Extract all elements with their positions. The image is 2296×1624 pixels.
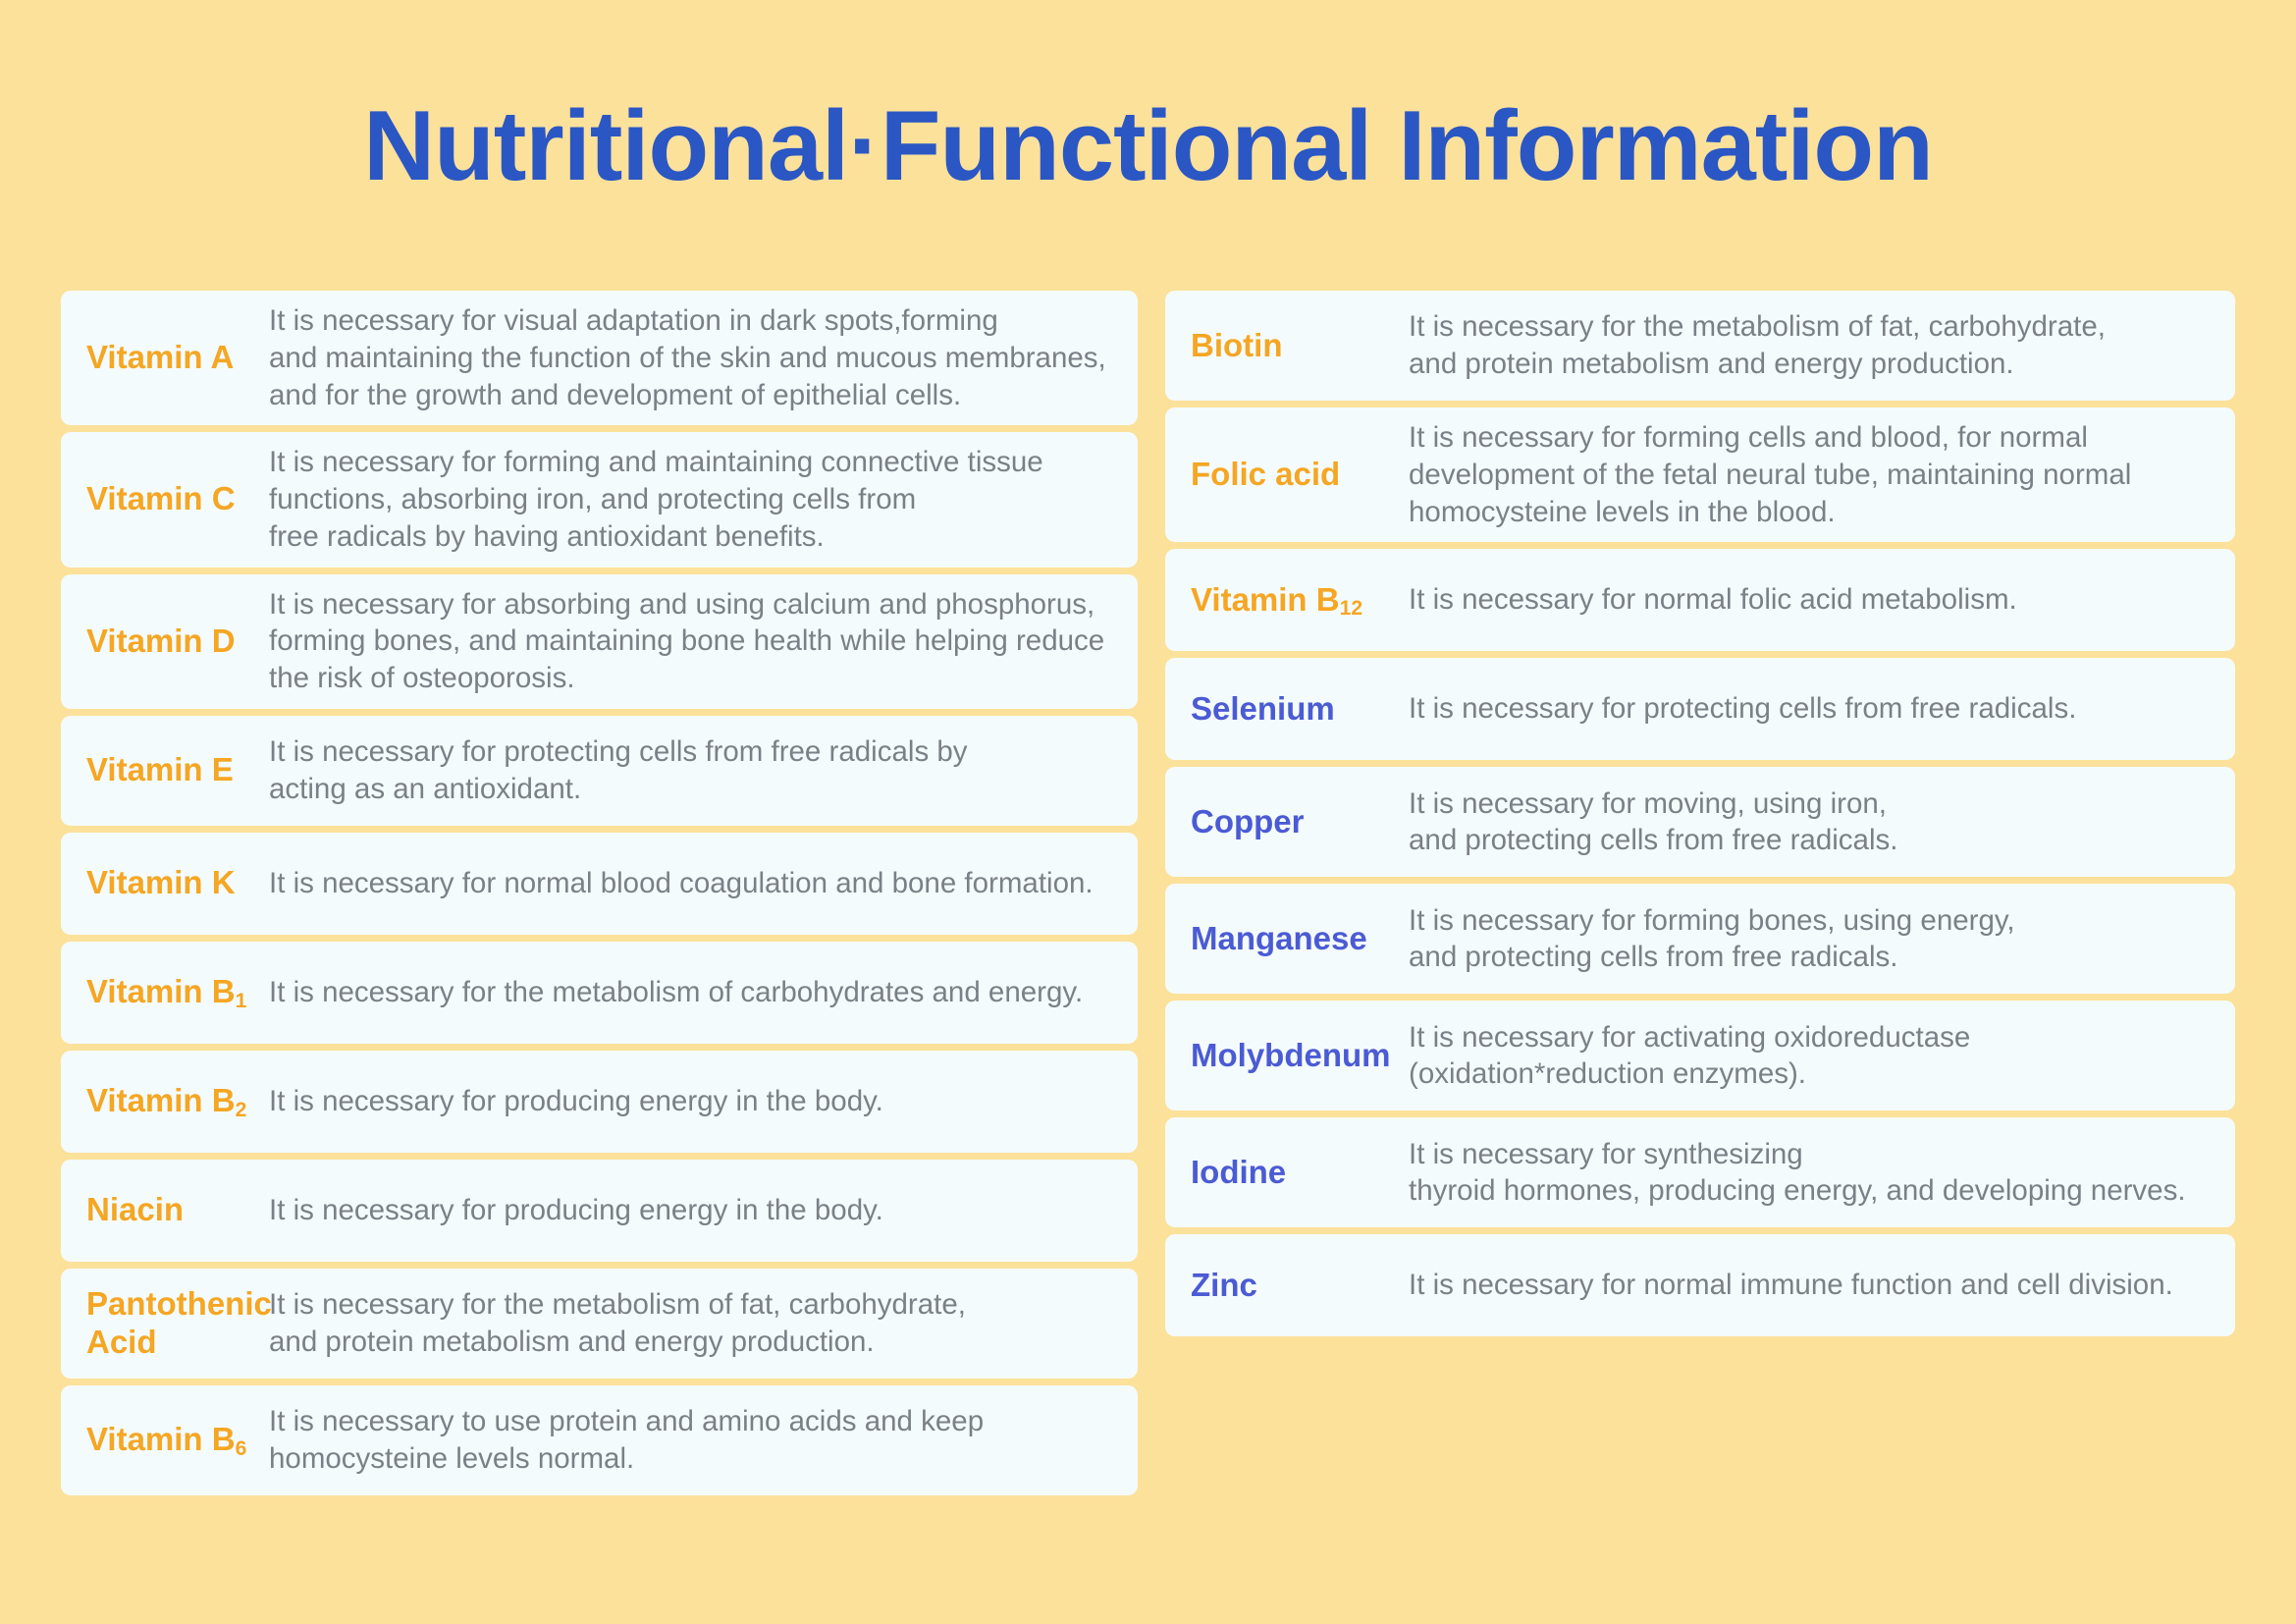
nutrient-row-vitamin-e: Vitamin EIt is necessary for protecting … (61, 716, 1138, 826)
nutrient-label-vitamin-c: Vitamin C (75, 480, 269, 518)
nutrient-label-text: Iodine (1191, 1154, 1286, 1190)
nutrient-description-zinc: It is necessary for normal immune functi… (1405, 1267, 2219, 1304)
nutrient-row-vitamin-c: Vitamin CIt is necessary for forming and… (61, 432, 1138, 567)
nutrient-description-niacin: It is necessary for producing energy in … (269, 1192, 1122, 1229)
nutrient-label-folic-acid: Folic acid (1179, 456, 1405, 494)
nutrient-label-text: Vitamin E (86, 751, 234, 787)
nutrient-label-text: Vitamin C (86, 480, 236, 516)
nutrient-label-text: Vitamin B (1191, 581, 1340, 618)
nutrient-label-text: Vitamin K (86, 864, 236, 900)
page-title: Nutritional·Functional Information (0, 94, 2296, 198)
nutrient-label-text: Vitamin B (86, 973, 236, 1009)
nutrient-description-vitamin-b2: It is necessary for producing energy in … (269, 1083, 1122, 1120)
nutrient-label-text: Vitamin A (86, 339, 234, 375)
nutrient-row-vitamin-a: Vitamin AIt is necessary for visual adap… (61, 291, 1138, 425)
nutrient-row-copper: CopperIt is necessary for moving, using … (1165, 767, 2235, 877)
nutrient-label-biotin: Biotin (1179, 327, 1405, 365)
nutrient-row-niacin: NiacinIt is necessary for producing ener… (61, 1160, 1138, 1262)
nutrient-label-vitamin-b6: Vitamin B6 (75, 1421, 269, 1459)
minerals-column: BiotinIt is necessary for the metabolism… (1165, 291, 2235, 1495)
nutrient-label-vitamin-b1: Vitamin B1 (75, 973, 269, 1011)
nutrient-label-text: Copper (1191, 803, 1305, 839)
nutrient-description-manganese: It is necessary for forming bones, using… (1405, 902, 2219, 977)
nutrient-label-copper: Copper (1179, 803, 1405, 841)
nutrient-row-selenium: SeleniumIt is necessary for protecting c… (1165, 658, 2235, 760)
nutrient-label-text: Vitamin B (86, 1421, 236, 1457)
nutrient-label-text: Biotin (1191, 327, 1282, 363)
nutrient-label-text: Molybdenum (1191, 1037, 1391, 1073)
nutrient-row-biotin: BiotinIt is necessary for the metabolism… (1165, 291, 2235, 401)
nutrient-label-pantothenic-acid: Pantothenic Acid (75, 1285, 269, 1362)
nutrient-row-vitamin-d: Vitamin DIt is necessary for absorbing a… (61, 574, 1138, 709)
nutrient-description-vitamin-b12: It is necessary for normal folic acid me… (1405, 581, 2219, 619)
nutrient-description-iodine: It is necessary for synthesizing thyroid… (1405, 1136, 2219, 1211)
nutrient-label-text: Vitamin D (86, 623, 236, 659)
nutrient-description-copper: It is necessary for moving, using iron, … (1405, 785, 2219, 860)
nutrient-description-vitamin-c: It is necessary for forming and maintain… (269, 444, 1122, 555)
info-columns: Vitamin AIt is necessary for visual adap… (0, 291, 2296, 1495)
nutrient-label-vitamin-b12: Vitamin B12 (1179, 581, 1405, 620)
nutrient-label-vitamin-d: Vitamin D (75, 623, 269, 661)
nutrient-description-vitamin-a: It is necessary for visual adaptation in… (269, 302, 1122, 413)
nutrient-label-subscript: 2 (236, 1099, 247, 1121)
nutrient-description-vitamin-k: It is necessary for normal blood coagula… (269, 865, 1122, 902)
nutrient-label-vitamin-e: Vitamin E (75, 751, 269, 789)
nutrient-description-biotin: It is necessary for the metabolism of fa… (1405, 308, 2219, 383)
nutrient-label-molybdenum: Molybdenum (1179, 1037, 1405, 1075)
nutrient-row-vitamin-b12: Vitamin B12It is necessary for normal fo… (1165, 549, 2235, 651)
nutrient-label-text: Niacin (86, 1191, 184, 1227)
nutrient-label-text: Folic acid (1191, 456, 1340, 492)
nutrient-label-text: Manganese (1191, 920, 1367, 956)
nutrient-label-selenium: Selenium (1179, 690, 1405, 729)
nutrient-label-subscript: 1 (236, 990, 247, 1012)
nutrient-label-text: Zinc (1191, 1267, 1257, 1303)
nutrient-label-text: Vitamin B (86, 1082, 236, 1118)
nutrient-description-folic-acid: It is necessary for forming cells and bl… (1405, 419, 2219, 530)
nutrient-row-vitamin-b1: Vitamin B1It is necessary for the metabo… (61, 942, 1138, 1044)
nutrient-description-vitamin-e: It is necessary for protecting cells fro… (269, 733, 1122, 808)
nutrient-label-iodine: Iodine (1179, 1154, 1405, 1192)
nutrient-row-vitamin-k: Vitamin KIt is necessary for normal bloo… (61, 833, 1138, 935)
nutrient-label-niacin: Niacin (75, 1191, 269, 1229)
nutrient-row-molybdenum: MolybdenumIt is necessary for activating… (1165, 1001, 2235, 1110)
vitamins-column: Vitamin AIt is necessary for visual adap… (61, 291, 1138, 1495)
nutrient-label-text: Selenium (1191, 690, 1335, 727)
nutrient-row-manganese: ManganeseIt is necessary for forming bon… (1165, 884, 2235, 994)
nutrient-label-vitamin-a: Vitamin A (75, 339, 269, 377)
nutrient-row-zinc: ZincIt is necessary for normal immune fu… (1165, 1234, 2235, 1336)
nutrient-description-molybdenum: It is necessary for activating oxidoredu… (1405, 1019, 2219, 1094)
nutrient-label-subscript: 6 (236, 1437, 247, 1460)
nutrient-description-vitamin-d: It is necessary for absorbing and using … (269, 586, 1122, 697)
nutrient-description-selenium: It is necessary for protecting cells fro… (1405, 690, 2219, 728)
nutrient-label-manganese: Manganese (1179, 920, 1405, 958)
nutrient-label-subscript: 12 (1340, 597, 1362, 620)
nutrient-row-vitamin-b2: Vitamin B2It is necessary for producing … (61, 1051, 1138, 1153)
nutrient-description-vitamin-b6: It is necessary to use protein and amino… (269, 1403, 1122, 1478)
nutrient-row-iodine: IodineIt is necessary for synthesizing t… (1165, 1117, 2235, 1227)
nutrient-description-vitamin-b1: It is necessary for the metabolism of ca… (269, 974, 1122, 1011)
nutrient-label-vitamin-b2: Vitamin B2 (75, 1082, 269, 1120)
nutrient-row-pantothenic-acid: Pantothenic AcidIt is necessary for the … (61, 1269, 1138, 1379)
nutrient-label-text: Pantothenic Acid (86, 1285, 272, 1360)
nutrient-label-vitamin-k: Vitamin K (75, 864, 269, 902)
nutrient-row-vitamin-b6: Vitamin B6It is necessary to use protein… (61, 1385, 1138, 1495)
nutrient-description-pantothenic-acid: It is necessary for the metabolism of fa… (269, 1286, 1122, 1361)
nutrient-label-zinc: Zinc (1179, 1267, 1405, 1305)
nutrient-row-folic-acid: Folic acidIt is necessary for forming ce… (1165, 407, 2235, 542)
page-root: Nutritional·Functional Information Vitam… (0, 0, 2296, 1624)
